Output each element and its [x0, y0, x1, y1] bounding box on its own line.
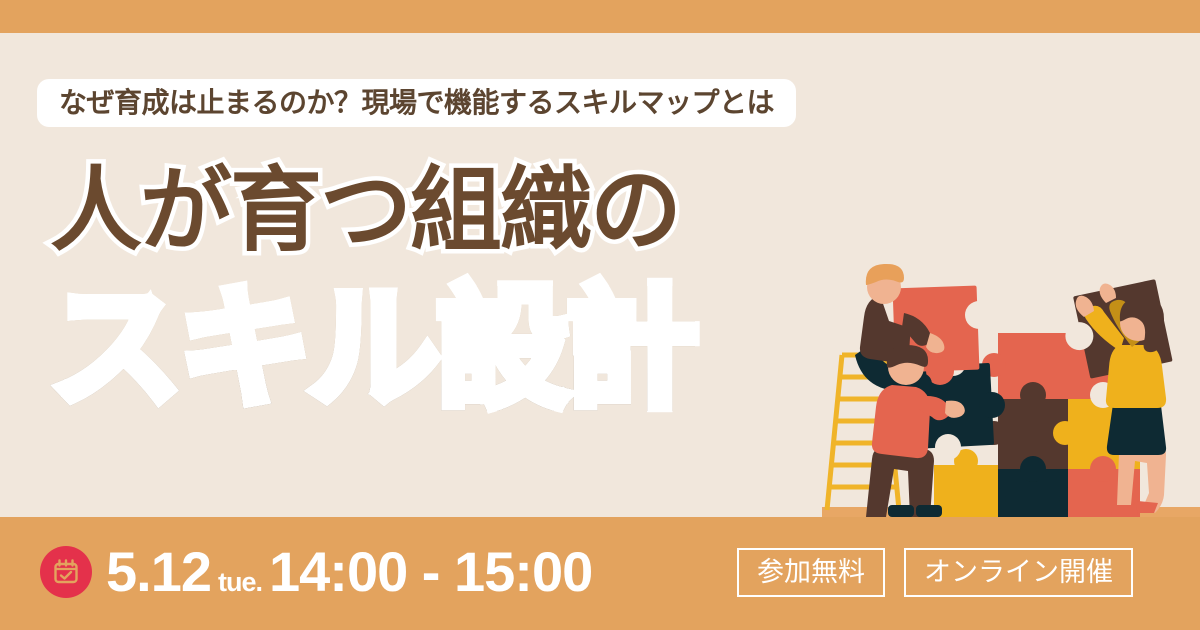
- event-day-of-week: tue.: [218, 569, 262, 596]
- badge-online-event: オンライン開催: [904, 548, 1133, 597]
- event-date: 5.12: [106, 544, 211, 600]
- badge-free-entry: 参加無料: [737, 548, 885, 597]
- subtitle-pill: なぜ育成は止まるのか？現場で機能するスキルマップとは: [37, 79, 796, 127]
- badge-group: 参加無料 オンライン開催: [737, 548, 1133, 597]
- badge-online-event-label: オンライン開催: [924, 559, 1113, 586]
- headline-block: 人が育つ組織の スキル設計 スキル設計: [50, 168, 850, 255]
- calendar-check-icon: [40, 546, 92, 598]
- schedule-row: 5.12 tue. 14:00 - 15:00: [40, 540, 592, 604]
- headline-line-1: 人が育つ組織の: [50, 168, 850, 255]
- badge-free-entry-label: 参加無料: [757, 559, 865, 586]
- event-time: 14:00 - 15:00: [269, 544, 592, 600]
- headline-line-2: スキル設計: [50, 286, 695, 411]
- people-assembling-puzzle-illustration: [822, 255, 1200, 517]
- top-accent-bar: [0, 0, 1200, 33]
- webinar-banner: なぜ育成は止まるのか？現場で機能するスキルマップとは 人が育つ組織の スキル設計…: [0, 0, 1200, 630]
- schedule-text: 5.12 tue. 14:00 - 15:00: [106, 544, 592, 600]
- subtitle-text: なぜ育成は止まるのか？現場で機能するスキルマップとは: [59, 89, 774, 117]
